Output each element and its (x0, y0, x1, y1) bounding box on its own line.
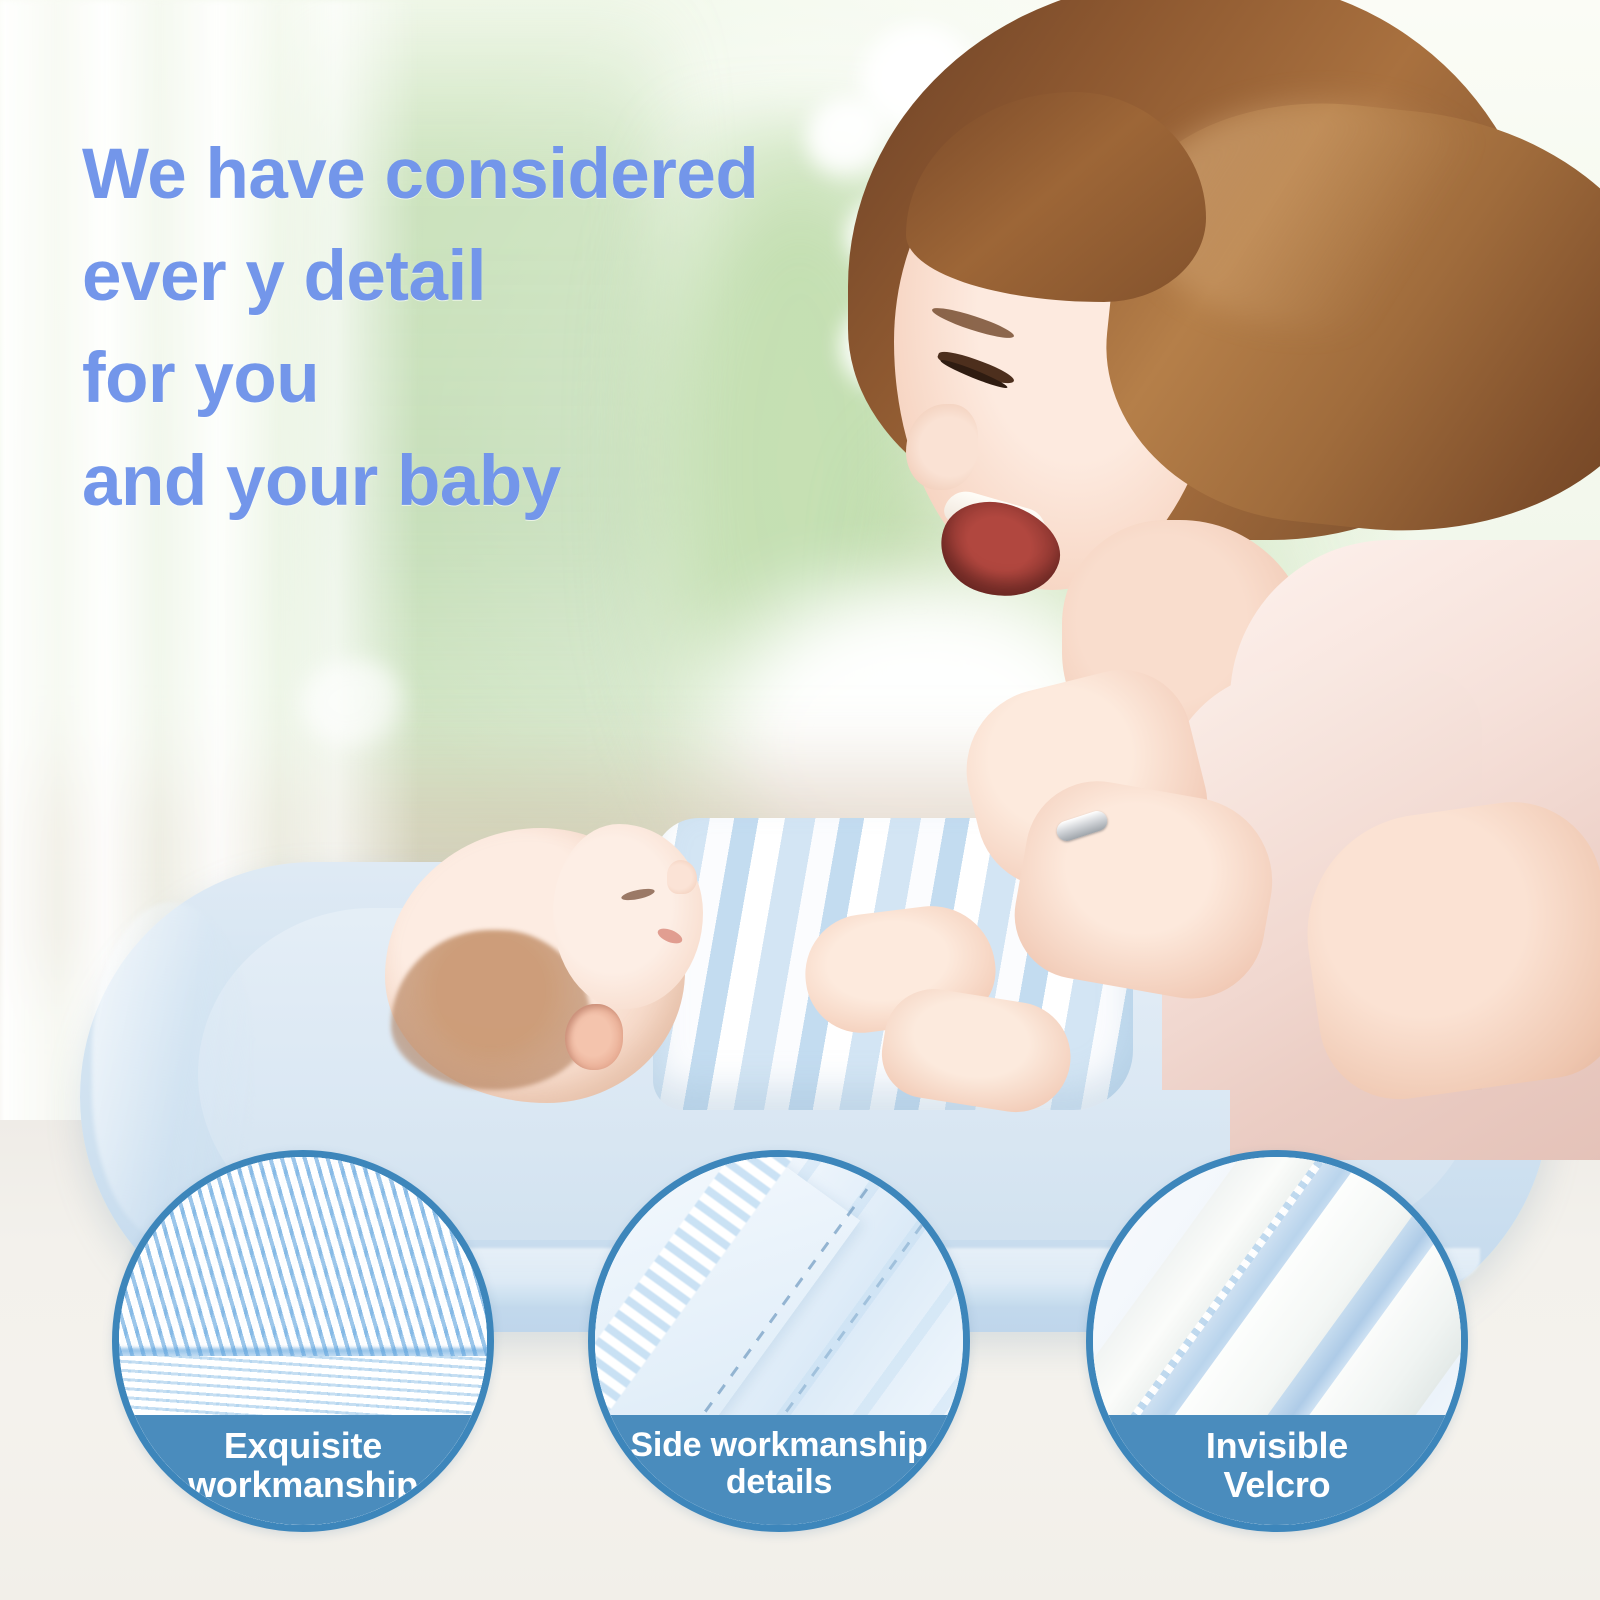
callout-label-text: Side workmanship details (630, 1427, 927, 1500)
baby-nose (667, 860, 697, 894)
callout-side-workmanship-details[interactable]: Side workmanship details (588, 1150, 970, 1532)
bokeh-light-5 (300, 660, 410, 750)
callout-invisible-velcro[interactable]: Invisible Velcro (1086, 1150, 1468, 1532)
callout-label-text: Exquisite workmanship (188, 1427, 418, 1505)
mother (810, 0, 1600, 1160)
callout-label-band: Invisible Velcro (1093, 1415, 1461, 1525)
callout-exquisite-workmanship[interactable]: Exquisite workmanship (112, 1150, 494, 1532)
product-lifestyle-banner: We have considered ever y detail for you… (0, 0, 1600, 1600)
callout-label-band: Side workmanship details (595, 1415, 963, 1525)
baby-ear (565, 1004, 623, 1070)
page-headline: We have considered ever y detail for you… (82, 124, 842, 533)
callout-label-text: Invisible Velcro (1206, 1427, 1348, 1505)
callout-label-band: Exquisite workmanship (119, 1415, 487, 1525)
knit-mesh-upper (119, 1157, 487, 1356)
